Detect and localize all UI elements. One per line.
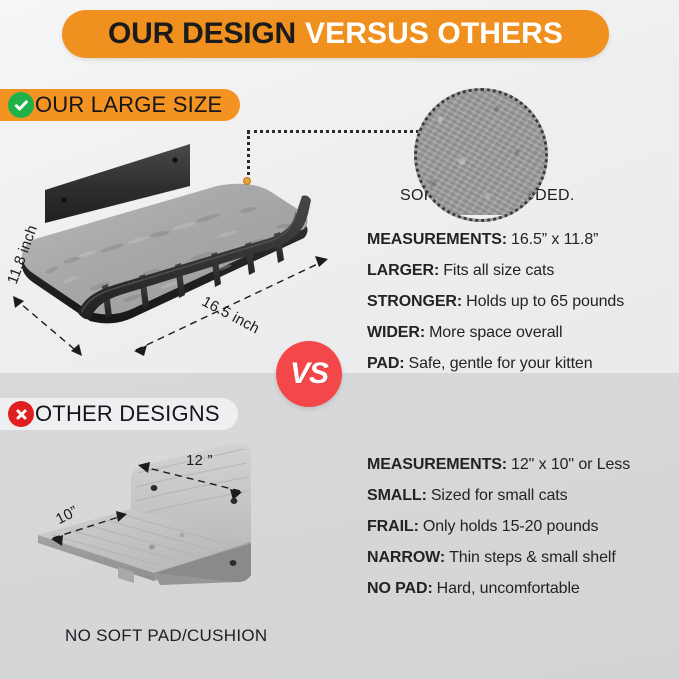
feature-value: 12" x 10" or Less xyxy=(511,456,630,474)
feature-row: SMALL: Sized for small cats xyxy=(367,480,673,511)
other-shelf-illustration xyxy=(30,443,320,623)
feature-row: STRONGER: Holds up to 65 pounds xyxy=(367,286,673,317)
feature-key: FRAIL: xyxy=(367,518,419,536)
callout-leader-vertical xyxy=(247,131,250,181)
feature-value: Thin steps & small shelf xyxy=(449,549,616,567)
feature-key: NO PAD: xyxy=(367,580,433,598)
badge-other-designs-label: OTHER DESIGNS xyxy=(35,401,220,427)
feature-row: NARROW: Thin steps & small shelf xyxy=(367,542,673,573)
callout-anchor-dot xyxy=(243,177,251,185)
badge-other-designs: OTHER DESIGNS xyxy=(0,398,238,430)
feature-key: NARROW: xyxy=(367,549,445,567)
features-ours: MEASUREMENTS: 16.5” x 11.8” LARGER: Fits… xyxy=(367,224,673,379)
header-title-light: VERSUS OTHERS xyxy=(305,17,563,51)
feature-value: Only holds 15-20 pounds xyxy=(423,518,599,536)
feature-row: LARGER: Fits all size cats xyxy=(367,255,673,286)
feature-row: FRAIL: Only holds 15-20 pounds xyxy=(367,511,673,542)
feature-row: MEASUREMENTS: 16.5” x 11.8” xyxy=(367,224,673,255)
feature-value: Holds up to 65 pounds xyxy=(466,293,624,311)
header-banner: OUR DESIGN VERSUS OTHERS xyxy=(62,10,609,58)
infographic-canvas: OUR DESIGN VERSUS OTHERS OUR LARGE SIZE xyxy=(0,0,679,679)
feature-row: NO PAD: Hard, uncomfortable xyxy=(367,573,673,604)
feature-key: MEASUREMENTS: xyxy=(367,456,507,474)
soft-pad-closeup-circle xyxy=(414,88,548,222)
feature-key: LARGER: xyxy=(367,262,439,280)
felt-texture xyxy=(417,91,545,219)
feature-value: Hard, uncomfortable xyxy=(437,580,580,598)
feature-value: Sized for small cats xyxy=(431,487,568,505)
feature-key: PAD: xyxy=(367,355,405,373)
feature-key: STRONGER: xyxy=(367,293,462,311)
x-circle-icon xyxy=(8,401,34,427)
callout-leader-horizontal xyxy=(247,130,419,133)
header-title-strong: OUR DESIGN xyxy=(108,17,296,51)
feature-row: MEASUREMENTS: 12" x 10" or Less xyxy=(367,449,673,480)
feature-value: 16.5” x 11.8” xyxy=(511,231,598,249)
check-circle-icon xyxy=(8,92,34,118)
feature-key: SMALL: xyxy=(367,487,427,505)
dimension-label-width-others: 12 ” xyxy=(186,452,213,469)
badge-our-large-size-label: OUR LARGE SIZE xyxy=(35,92,222,118)
no-soft-pad-caption: NO SOFT PAD/CUSHION xyxy=(65,626,267,646)
feature-key: MEASUREMENTS: xyxy=(367,231,507,249)
feature-value: Safe, gentle for your kitten xyxy=(409,355,593,373)
feature-key: WIDER: xyxy=(367,324,425,342)
features-others: MEASUREMENTS: 12" x 10" or Less SMALL: S… xyxy=(367,449,673,604)
feature-row: PAD: Safe, gentle for your kitten xyxy=(367,348,673,379)
feature-value: More space overall xyxy=(429,324,562,342)
vs-badge-label: VS xyxy=(290,357,328,391)
feature-row: WIDER: More space overall xyxy=(367,317,673,348)
vs-badge: VS xyxy=(276,341,342,407)
our-shelf-illustration xyxy=(12,138,352,368)
feature-value: Fits all size cats xyxy=(443,262,554,280)
badge-our-large-size: OUR LARGE SIZE xyxy=(0,89,240,121)
